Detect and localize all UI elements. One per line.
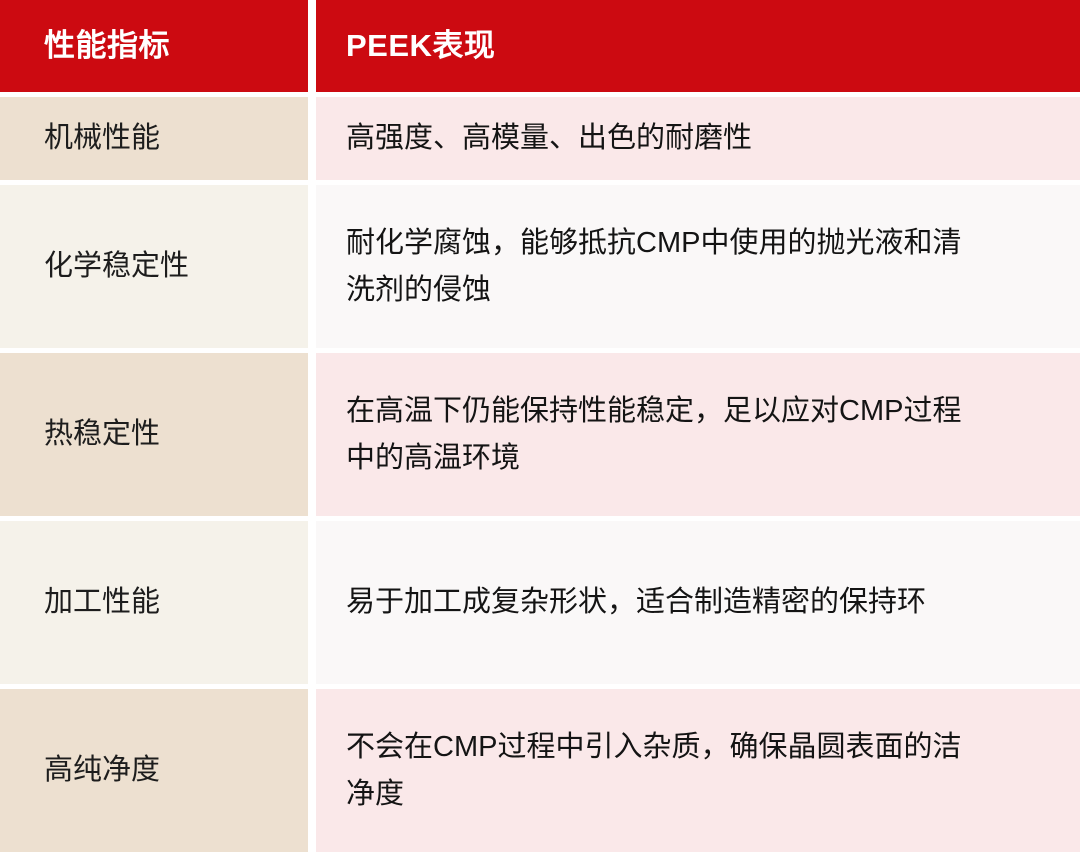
table-header-row: 性能指标 PEEK表现 — [0, 0, 1080, 92]
row-value-cell: 不会在CMP过程中引入杂质，确保晶圆表面的洁净度 — [316, 689, 1080, 852]
column-divider — [308, 185, 316, 348]
row-value-cell: 在高温下仍能保持性能稳定，足以应对CMP过程中的高温环境 — [316, 353, 1080, 516]
column-divider — [308, 97, 316, 180]
table-row: 机械性能 高强度、高模量、出色的耐磨性 — [0, 97, 1080, 180]
row-label: 化学稳定性 — [44, 247, 189, 286]
row-value-cell: 易于加工成复杂形状，适合制造精密的保持环 — [316, 521, 1080, 684]
column-divider — [308, 689, 316, 852]
row-label: 高纯净度 — [44, 751, 160, 790]
peek-performance-table: 性能指标 PEEK表现 机械性能 高强度、高模量、出色的耐磨性 化学稳定性 耐化… — [0, 0, 1080, 816]
row-value-cell: 耐化学腐蚀，能够抵抗CMP中使用的抛光液和清洗剂的侵蚀 — [316, 185, 1080, 348]
row-label: 加工性能 — [44, 583, 160, 622]
header-cell-metric: 性能指标 — [0, 0, 308, 92]
column-divider — [308, 0, 316, 92]
column-header-metric: 性能指标 — [44, 27, 170, 64]
row-label-cell: 机械性能 — [0, 97, 308, 180]
table-row: 高纯净度 不会在CMP过程中引入杂质，确保晶圆表面的洁净度 — [0, 689, 1080, 852]
row-value-cell: 高强度、高模量、出色的耐磨性 — [316, 97, 1080, 180]
column-divider — [308, 353, 316, 516]
row-label-cell: 热稳定性 — [0, 353, 308, 516]
table-row: 化学稳定性 耐化学腐蚀，能够抵抗CMP中使用的抛光液和清洗剂的侵蚀 — [0, 185, 1080, 348]
row-value: 易于加工成复杂形状，适合制造精密的保持环 — [346, 579, 926, 626]
header-cell-performance: PEEK表现 — [316, 0, 1080, 92]
table-row: 加工性能 易于加工成复杂形状，适合制造精密的保持环 — [0, 521, 1080, 684]
row-label-cell: 高纯净度 — [0, 689, 308, 852]
table-row: 热稳定性 在高温下仍能保持性能稳定，足以应对CMP过程中的高温环境 — [0, 353, 1080, 516]
column-divider — [308, 521, 316, 684]
row-value: 在高温下仍能保持性能稳定，足以应对CMP过程中的高温环境 — [346, 388, 976, 482]
column-header-performance: PEEK表现 — [346, 27, 495, 64]
row-value: 耐化学腐蚀，能够抵抗CMP中使用的抛光液和清洗剂的侵蚀 — [346, 220, 976, 314]
row-value: 高强度、高模量、出色的耐磨性 — [346, 115, 752, 162]
row-label-cell: 加工性能 — [0, 521, 308, 684]
row-value: 不会在CMP过程中引入杂质，确保晶圆表面的洁净度 — [346, 724, 976, 818]
row-label: 机械性能 — [44, 119, 160, 158]
row-label: 热稳定性 — [44, 415, 160, 454]
row-label-cell: 化学稳定性 — [0, 185, 308, 348]
